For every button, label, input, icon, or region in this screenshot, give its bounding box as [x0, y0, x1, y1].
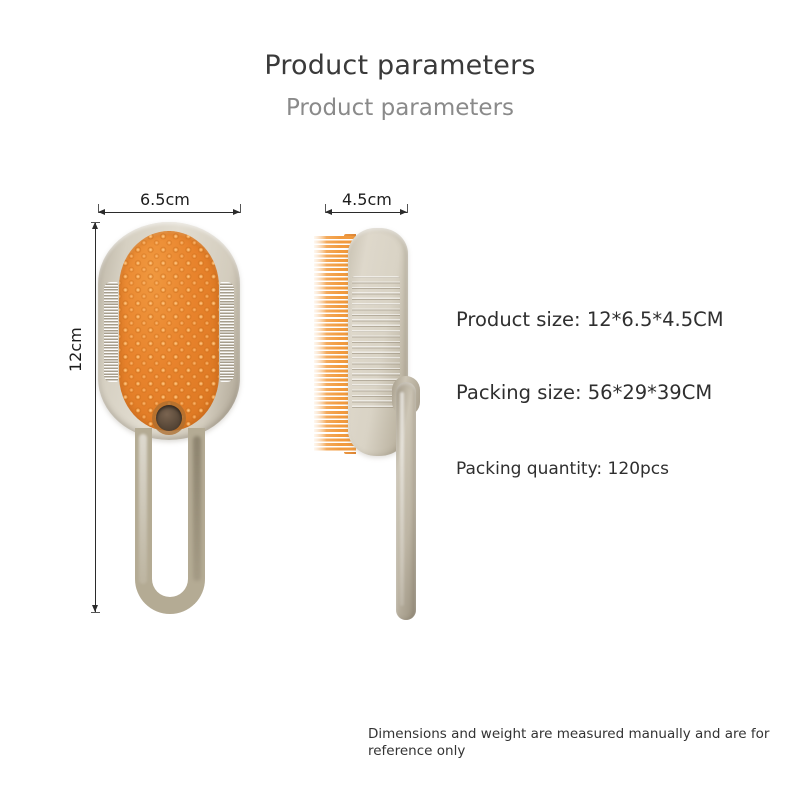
- tick-side-width-end: [407, 204, 408, 213]
- silicone-brush-pad: [119, 231, 219, 431]
- bristle-taper-fade: [310, 236, 340, 452]
- spec-product-size: Product size: 12*6.5*4.5CM: [456, 308, 724, 331]
- arrow-right-front-width: [233, 209, 240, 215]
- dimension-line-side-width: [325, 212, 407, 213]
- page-title: Product parameters: [0, 50, 800, 81]
- handle-shadow-right: [193, 436, 201, 581]
- dimension-label-front-height: 12cm: [66, 327, 85, 372]
- comb-teeth-left: [104, 282, 118, 382]
- arrow-up-front-height: [92, 222, 98, 229]
- spec-packing-quantity: Packing quantity: 120pcs: [456, 459, 669, 479]
- dimension-line-front-width: [98, 212, 240, 213]
- loop-handle-side: [396, 382, 416, 620]
- comb-teeth-right: [220, 282, 234, 382]
- silicone-nubs-grid-offset: [119, 231, 219, 431]
- arrow-down-front-height: [92, 605, 98, 612]
- arrow-left-front-width: [98, 209, 105, 215]
- handle-highlight-side: [400, 392, 404, 606]
- dimension-label-front-width: 6.5cm: [140, 190, 190, 209]
- tick-side-width-start: [325, 204, 326, 213]
- handle-highlight-left: [139, 434, 147, 584]
- arrow-left-side-width: [325, 209, 332, 215]
- dimension-label-side-width: 4.5cm: [342, 190, 392, 209]
- page-subtitle: Product parameters: [0, 95, 800, 121]
- arrow-right-side-width: [400, 209, 407, 215]
- spec-packing-size: Packing size: 56*29*39CM: [456, 381, 712, 404]
- tick-front-width-start: [98, 204, 99, 213]
- dimension-line-front-height: [95, 222, 96, 612]
- footnote-disclaimer: Dimensions and weight are measured manua…: [368, 726, 786, 760]
- product-front-view: [98, 222, 240, 614]
- product-side-view: [300, 228, 435, 626]
- tick-front-width-end: [240, 204, 241, 213]
